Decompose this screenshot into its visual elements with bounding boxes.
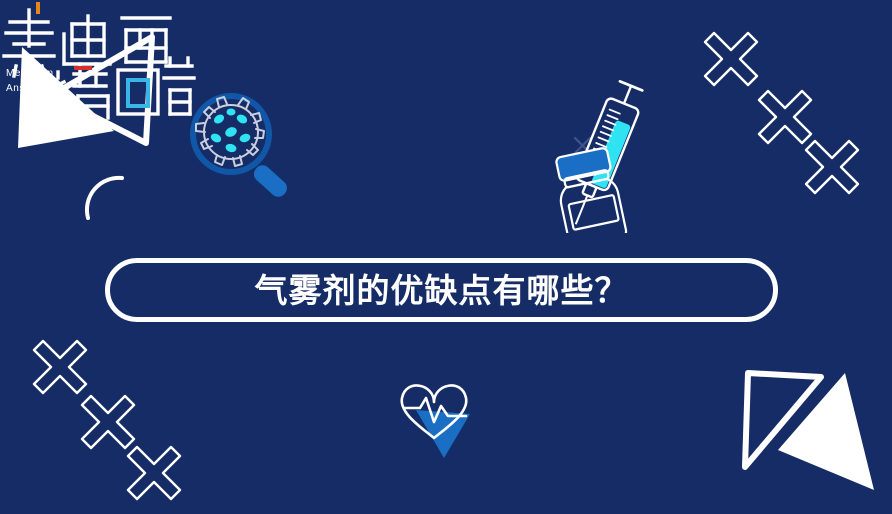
cross-icon-top-right-2 [759, 91, 811, 143]
logo-accent-mark [36, 2, 40, 14]
magnifier-virus-icon [182, 88, 310, 200]
magnifier-handle [251, 162, 291, 200]
question-title-pill: 气雾剂的优缺点有哪些？ [105, 258, 778, 322]
cross-icon-bottom-left-1 [34, 341, 86, 393]
cross-icon-top-right-1 [705, 33, 757, 85]
triangle-filled-bottom-right [778, 373, 874, 490]
brand-logo: Medicilon Answer me [0, 0, 196, 120]
logo-accent-dash [74, 66, 92, 70]
logo-english-text: Medicilon Answer me [6, 66, 61, 96]
poster-canvas: Medicilon Answer me 气雾剂的优缺点有哪些？ [0, 0, 892, 514]
cross-icon-bottom-left-3 [128, 447, 180, 499]
logo-english-line-1: Medicilon [6, 66, 61, 81]
logo-chinese-characters [0, 0, 196, 120]
syringe-vial-group [544, 78, 666, 233]
vial-label [568, 195, 618, 230]
page-title: 气雾剂的优缺点有哪些？ [255, 274, 629, 307]
cross-icon-bottom-left-2 [82, 396, 134, 448]
arc-decoration-left [87, 178, 122, 218]
logo-english-line-2: Answer me [6, 81, 61, 96]
logo-accent-square [128, 80, 148, 106]
heart-arrow-icon [386, 372, 482, 458]
cross-icon-top-right-3 [806, 141, 858, 193]
